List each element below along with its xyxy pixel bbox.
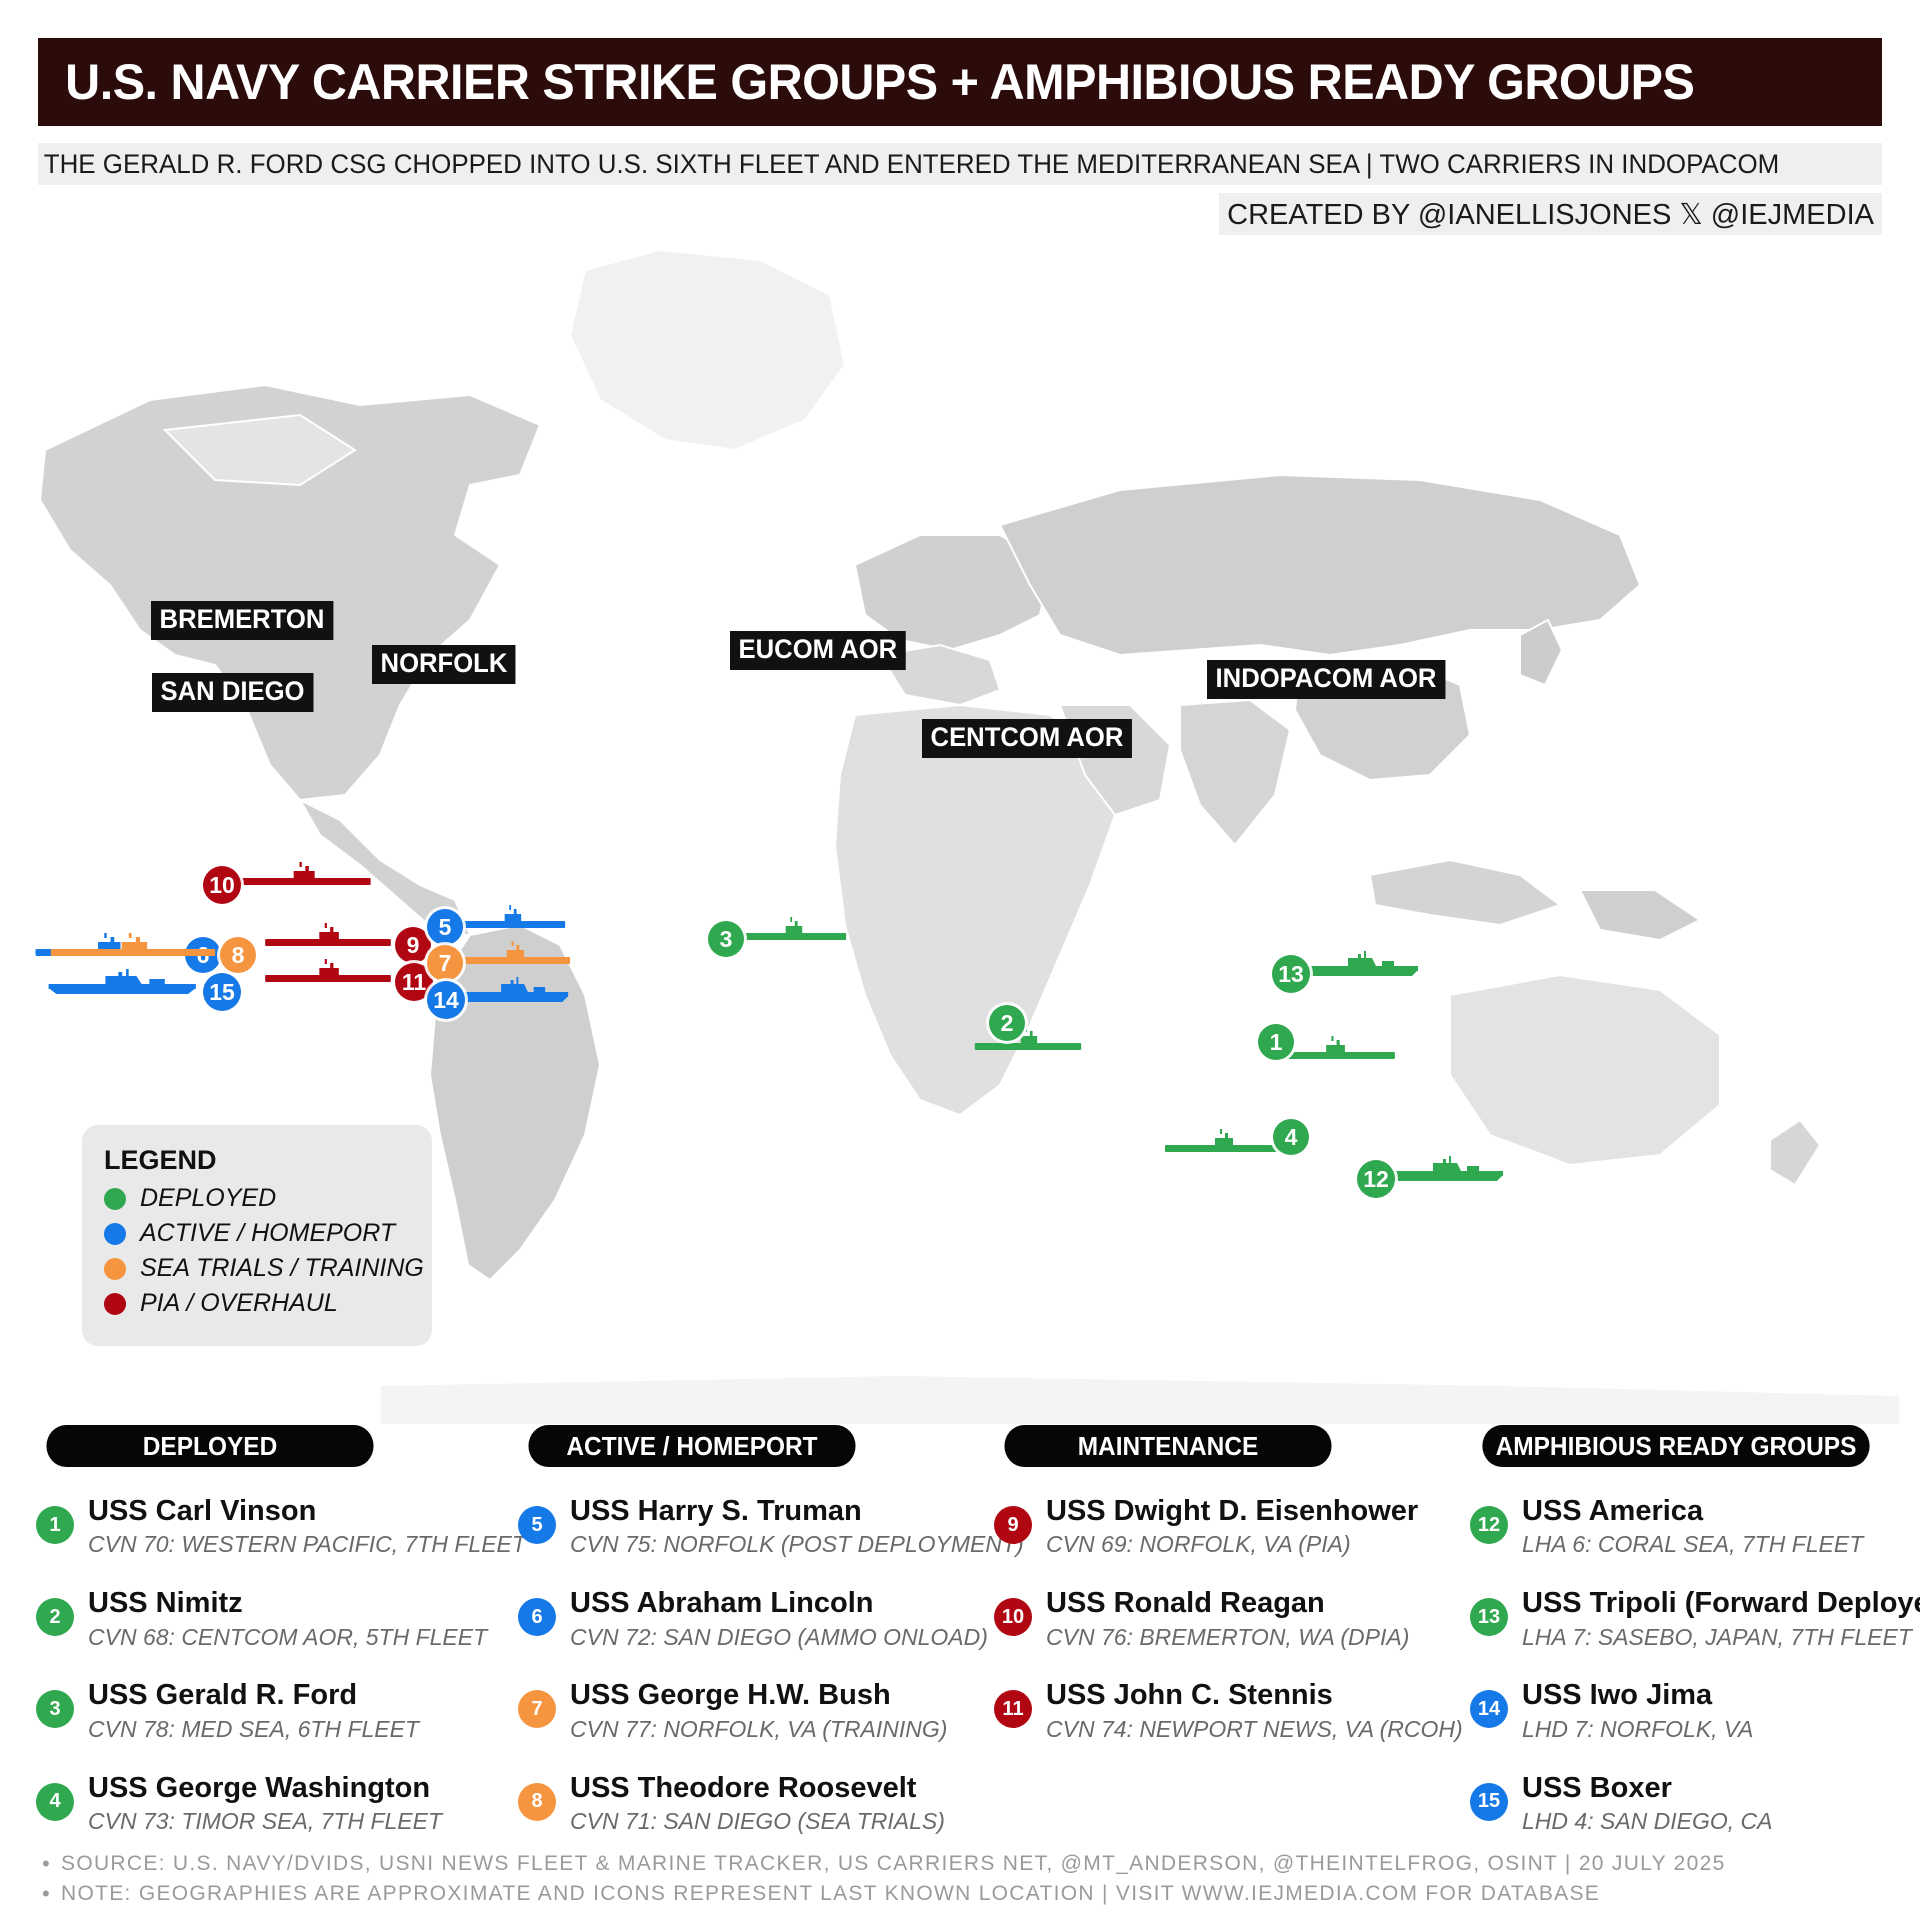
entry-number-badge: 14 <box>1470 1690 1508 1728</box>
entry-ship-detail: CVN 76: BREMERTON, WA (DPIA) <box>1046 1623 1409 1652</box>
fleet-entry[interactable]: 1USS Carl VinsonCVN 70: WESTERN PACIFIC,… <box>36 1495 384 1559</box>
entry-number-badge: 11 <box>994 1690 1032 1728</box>
entry-ship-name: USS Theodore Roosevelt <box>570 1772 945 1804</box>
ship-icon <box>233 862 373 893</box>
entry-number-badge: 8 <box>518 1783 556 1821</box>
entry-ship-name: USS Gerald R. Ford <box>88 1679 419 1711</box>
entry-number-badge: 15 <box>1470 1783 1508 1821</box>
entry-ship-name: USS Boxer <box>1522 1772 1773 1804</box>
entry-text: USS Ronald ReaganCVN 76: BREMERTON, WA (… <box>1046 1587 1409 1651</box>
fleet-entry[interactable]: 9USS Dwight D. EisenhowerCVN 69: NORFOLK… <box>994 1495 1342 1559</box>
ship-icon <box>48 933 218 964</box>
entry-ship-name: USS Harry S. Truman <box>570 1495 1024 1527</box>
map-marker-1[interactable]: 1 <box>1258 1024 1294 1060</box>
entry-ship-detail: LHA 6: CORAL SEA, 7TH FLEET <box>1522 1530 1863 1559</box>
footer-source-text: SOURCE: U.S. NAVY/DVIDS, USNI NEWS FLEET… <box>61 1852 1726 1876</box>
entry-number-badge: 4 <box>36 1783 74 1821</box>
bullet-icon: • <box>42 1883 51 1905</box>
fleet-entry[interactable]: 5USS Harry S. TrumanCVN 75: NORFOLK (POS… <box>518 1495 866 1559</box>
entry-number-badge: 13 <box>1470 1598 1508 1636</box>
footer-note-line: • NOTE: GEOGRAPHIES ARE APPROXIMATE AND … <box>42 1882 1902 1906</box>
fleet-column: AMPHIBIOUS READY GROUPS12USS AmericaLHA … <box>1470 1425 1882 1836</box>
entry-ship-name: USS George Washington <box>88 1772 442 1804</box>
entry-ship-detail: CVN 74: NEWPORT NEWS, VA (RCOH) <box>1046 1715 1463 1744</box>
entry-ship-name: USS Ronald Reagan <box>1046 1587 1409 1619</box>
map-marker-10[interactable]: 10 <box>203 866 241 904</box>
legend-item-label: PIA / OVERHAUL <box>140 1289 338 1318</box>
fleet-entry[interactable]: 13USS Tripoli (Forward Deployed)LHA 7: S… <box>1470 1587 1882 1651</box>
entry-ship-name: USS Tripoli (Forward Deployed) <box>1522 1587 1920 1619</box>
legend-item: PIA / OVERHAUL <box>104 1289 412 1318</box>
ship-icon <box>457 941 572 972</box>
entry-text: USS Carl VinsonCVN 70: WESTERN PACIFIC, … <box>88 1495 526 1559</box>
entry-ship-detail: CVN 78: MED SEA, 6TH FLEET <box>88 1715 419 1744</box>
credit-text: CREATED BY @IANELLISJONES 𝕏 @IEJMEDIA <box>1227 197 1874 232</box>
entry-ship-detail: CVN 73: TIMOR SEA, 7TH FLEET <box>88 1807 442 1836</box>
ship-icon <box>1163 1129 1283 1160</box>
entry-text: USS Dwight D. EisenhowerCVN 69: NORFOLK,… <box>1046 1495 1418 1559</box>
ship-icon <box>263 959 393 990</box>
legend-color-dot-icon <box>104 1258 126 1280</box>
entry-ship-detail: CVN 68: CENTCOM AOR, 5TH FLEET <box>88 1623 487 1652</box>
legend-item-label: SEA TRIALS / TRAINING <box>140 1254 424 1283</box>
credit-bar: CREATED BY @IANELLISJONES 𝕏 @IEJMEDIA <box>1219 193 1882 235</box>
footer-note-text: NOTE: GEOGRAPHIES ARE APPROXIMATE AND IC… <box>61 1882 1600 1906</box>
entry-ship-name: USS Iwo Jima <box>1522 1679 1753 1711</box>
fleet-entry[interactable]: 6USS Abraham LincolnCVN 72: SAN DIEGO (A… <box>518 1587 866 1651</box>
fleet-entry[interactable]: 8USS Theodore RooseveltCVN 71: SAN DIEGO… <box>518 1772 866 1836</box>
entry-text: USS George H.W. BushCVN 77: NORFOLK, VA … <box>570 1679 947 1743</box>
ship-icon <box>46 969 201 1000</box>
fleet-column: MAINTENANCE9USS Dwight D. EisenhowerCVN … <box>994 1425 1342 1744</box>
ship-icon <box>457 905 567 936</box>
ship-icon <box>1387 1156 1507 1187</box>
map-place-label: EUCOM AOR <box>730 631 906 670</box>
map-marker-7[interactable]: 7 <box>427 945 463 981</box>
fleet-entry[interactable]: 10USS Ronald ReaganCVN 76: BREMERTON, WA… <box>994 1587 1342 1651</box>
entry-ship-name: USS America <box>1522 1495 1863 1527</box>
map-place-label: BREMERTON <box>151 601 333 640</box>
entry-ship-detail: CVN 72: SAN DIEGO (AMMO ONLOAD) <box>570 1623 988 1652</box>
entry-ship-name: USS George H.W. Bush <box>570 1679 947 1711</box>
legend-item-label: DEPLOYED <box>140 1184 276 1213</box>
legend-item: ACTIVE / HOMEPORT <box>104 1219 412 1248</box>
map-marker-15[interactable]: 15 <box>203 973 241 1011</box>
legend-item-label: ACTIVE / HOMEPORT <box>140 1219 395 1248</box>
fleet-entry[interactable]: 3USS Gerald R. FordCVN 78: MED SEA, 6TH … <box>36 1679 384 1743</box>
map-place-label: INDOPACOM AOR <box>1207 660 1445 699</box>
entry-number-badge: 2 <box>36 1598 74 1636</box>
map-marker-3[interactable]: 3 <box>708 921 744 957</box>
entry-number-badge: 7 <box>518 1690 556 1728</box>
entry-ship-detail: CVN 75: NORFOLK (POST DEPLOYMENT) <box>570 1530 1024 1559</box>
ship-icon <box>263 923 393 954</box>
subtitle-bar: THE GERALD R. FORD CSG CHOPPED INTO U.S.… <box>38 143 1882 185</box>
map-place-label: SAN DIEGO <box>152 673 313 712</box>
fleet-column: ACTIVE / HOMEPORT5USS Harry S. TrumanCVN… <box>518 1425 866 1836</box>
entry-text: USS Abraham LincolnCVN 72: SAN DIEGO (AM… <box>570 1587 988 1651</box>
map-marker-8[interactable]: 8 <box>220 937 256 973</box>
legend-color-dot-icon <box>104 1188 126 1210</box>
subtitle-text: THE GERALD R. FORD CSG CHOPPED INTO U.S.… <box>38 149 1779 180</box>
map-marker-12[interactable]: 12 <box>1357 1160 1395 1198</box>
entry-number-badge: 5 <box>518 1506 556 1544</box>
entry-ship-detail: CVN 69: NORFOLK, VA (PIA) <box>1046 1530 1418 1559</box>
entry-ship-detail: LHD 7: NORFOLK, VA <box>1522 1715 1753 1744</box>
fleet-column: DEPLOYED1USS Carl VinsonCVN 70: WESTERN … <box>36 1425 384 1836</box>
ship-icon <box>457 977 572 1008</box>
map-place-label: CENTCOM AOR <box>922 719 1132 758</box>
legend-title: LEGEND <box>104 1145 412 1176</box>
entry-ship-name: USS John C. Stennis <box>1046 1679 1463 1711</box>
entry-number-badge: 10 <box>994 1598 1032 1636</box>
column-header-0: DEPLOYED <box>46 1425 373 1467</box>
entry-text: USS Theodore RooseveltCVN 71: SAN DIEGO … <box>570 1772 945 1836</box>
entry-text: USS Gerald R. FordCVN 78: MED SEA, 6TH F… <box>88 1679 419 1743</box>
map-marker-9[interactable]: 9 <box>395 927 431 963</box>
map-marker-2[interactable]: 2 <box>989 1005 1025 1041</box>
legend-item: DEPLOYED <box>104 1184 412 1213</box>
fleet-entry[interactable]: 11USS John C. StennisCVN 74: NEWPORT NEW… <box>994 1679 1342 1743</box>
entry-ship-name: USS Abraham Lincoln <box>570 1587 988 1619</box>
fleet-entry[interactable]: 7USS George H.W. BushCVN 77: NORFOLK, VA… <box>518 1679 866 1743</box>
entry-text: USS Tripoli (Forward Deployed)LHA 7: SAS… <box>1522 1587 1920 1651</box>
entry-text: USS John C. StennisCVN 74: NEWPORT NEWS,… <box>1046 1679 1463 1743</box>
column-header-1: ACTIVE / HOMEPORT <box>528 1425 855 1467</box>
map-marker-5[interactable]: 5 <box>427 909 463 945</box>
map-marker-13[interactable]: 13 <box>1272 955 1310 993</box>
column-header-3: AMPHIBIOUS READY GROUPS <box>1482 1425 1869 1467</box>
entry-number-badge: 6 <box>518 1598 556 1636</box>
bullet-icon: • <box>42 1853 51 1875</box>
entry-number-badge: 3 <box>36 1690 74 1728</box>
fleet-entry[interactable]: 15USS BoxerLHD 4: SAN DIEGO, CA <box>1470 1772 1882 1836</box>
map-place-label: NORFOLK <box>372 645 516 684</box>
entry-text: USS AmericaLHA 6: CORAL SEA, 7TH FLEET <box>1522 1495 1863 1559</box>
entry-ship-detail: CVN 71: SAN DIEGO (SEA TRIALS) <box>570 1807 945 1836</box>
entry-text: USS George WashingtonCVN 73: TIMOR SEA, … <box>88 1772 442 1836</box>
fleet-entry[interactable]: 2USS NimitzCVN 68: CENTCOM AOR, 5TH FLEE… <box>36 1587 384 1651</box>
entry-number-badge: 1 <box>36 1506 74 1544</box>
entry-text: USS BoxerLHD 4: SAN DIEGO, CA <box>1522 1772 1773 1836</box>
header-bar: U.S. NAVY CARRIER STRIKE GROUPS + AMPHIB… <box>38 38 1882 126</box>
entry-text: USS Harry S. TrumanCVN 75: NORFOLK (POST… <box>570 1495 1024 1559</box>
entry-text: USS NimitzCVN 68: CENTCOM AOR, 5TH FLEET <box>88 1587 487 1651</box>
ship-icon <box>1302 951 1422 982</box>
page-title: U.S. NAVY CARRIER STRIKE GROUPS + AMPHIB… <box>38 53 1694 111</box>
fleet-status-table: DEPLOYED1USS Carl VinsonCVN 70: WESTERN … <box>0 1425 1920 1845</box>
entry-ship-detail: LHA 7: SASEBO, JAPAN, 7TH FLEET <box>1522 1623 1920 1652</box>
entry-ship-detail: LHD 4: SAN DIEGO, CA <box>1522 1807 1773 1836</box>
entry-ship-name: USS Nimitz <box>88 1587 487 1619</box>
entry-text: USS Iwo JimaLHD 7: NORFOLK, VA <box>1522 1679 1753 1743</box>
entry-ship-detail: CVN 77: NORFOLK, VA (TRAINING) <box>570 1715 947 1744</box>
footer-source-line: • SOURCE: U.S. NAVY/DVIDS, USNI NEWS FLE… <box>42 1852 1902 1876</box>
entry-ship-name: USS Dwight D. Eisenhower <box>1046 1495 1418 1527</box>
map-marker-14[interactable]: 14 <box>427 981 465 1019</box>
fleet-entry[interactable]: 14USS Iwo JimaLHD 7: NORFOLK, VA <box>1470 1679 1882 1743</box>
legend-item: SEA TRIALS / TRAINING <box>104 1254 412 1283</box>
ship-icon <box>973 1027 1083 1058</box>
entry-ship-name: USS Carl Vinson <box>88 1495 526 1527</box>
ship-icon <box>738 917 848 948</box>
legend-color-dot-icon <box>104 1223 126 1245</box>
legend-color-dot-icon <box>104 1293 126 1315</box>
fleet-entry[interactable]: 12USS AmericaLHA 6: CORAL SEA, 7TH FLEET <box>1470 1495 1882 1559</box>
map-marker-4[interactable]: 4 <box>1273 1119 1309 1155</box>
legend-items: DEPLOYEDACTIVE / HOMEPORTSEA TRIALS / TR… <box>102 1184 412 1318</box>
fleet-entry[interactable]: 4USS George WashingtonCVN 73: TIMOR SEA,… <box>36 1772 384 1836</box>
column-header-2: MAINTENANCE <box>1004 1425 1331 1467</box>
footer: • SOURCE: U.S. NAVY/DVIDS, USNI NEWS FLE… <box>42 1852 1902 1912</box>
entry-number-badge: 9 <box>994 1506 1032 1544</box>
entry-number-badge: 12 <box>1470 1506 1508 1544</box>
legend: LEGEND DEPLOYEDACTIVE / HOMEPORTSEA TRIA… <box>82 1125 432 1346</box>
entry-ship-detail: CVN 70: WESTERN PACIFIC, 7TH FLEET <box>88 1530 526 1559</box>
